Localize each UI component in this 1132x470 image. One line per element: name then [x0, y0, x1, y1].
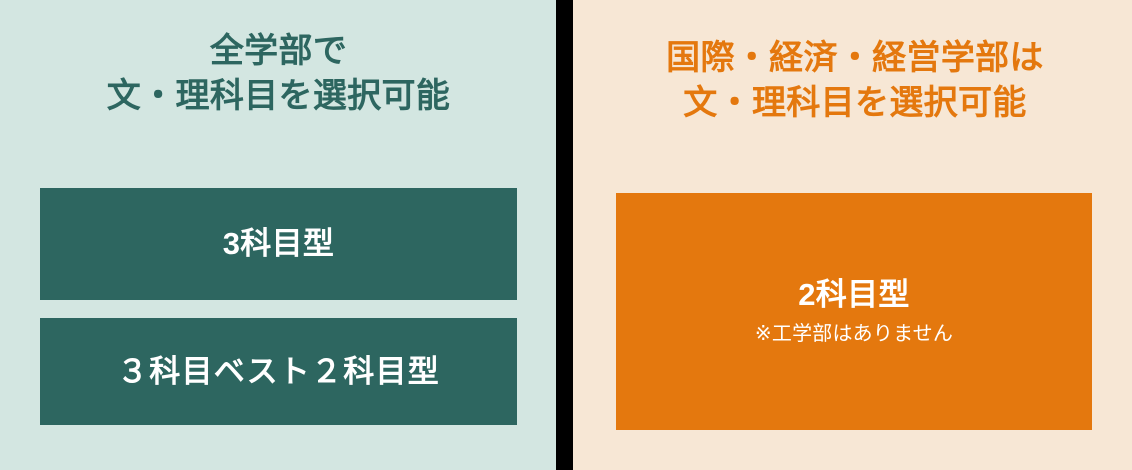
- panel-intl-econ-management: 国際・経済・経営学部は 文・理科目を選択可能 2科目型 ※工学部はありません: [573, 0, 1132, 470]
- card-two-subject-type: 2科目型 ※工学部はありません: [616, 193, 1092, 430]
- card-three-subject-type: 3科目型: [40, 188, 517, 300]
- comparison-graphic: 全学部で 文・理科目を選択可能 3科目型 ３科目ベスト２科目型 国際・経済・経営…: [0, 0, 1132, 470]
- card-note-two-subject-type: ※工学部はありません: [755, 321, 953, 347]
- card-title-two-subject-type: 2科目型: [798, 276, 909, 313]
- panel-all-faculties: 全学部で 文・理科目を選択可能 3科目型 ３科目ベスト２科目型: [0, 0, 556, 470]
- card-three-subject-best-two-type: ３科目ベスト２科目型: [40, 318, 517, 425]
- panel-heading-intl-econ-management: 国際・経済・経営学部は 文・理科目を選択可能: [617, 36, 1093, 126]
- card-title-three-subject-type: 3科目型: [223, 225, 334, 262]
- panel-heading-all-faculties: 全学部で 文・理科目を選択可能: [40, 29, 517, 119]
- panel-divider: [556, 0, 573, 470]
- card-title-three-subject-best-two-type: ３科目ベスト２科目型: [117, 353, 440, 390]
